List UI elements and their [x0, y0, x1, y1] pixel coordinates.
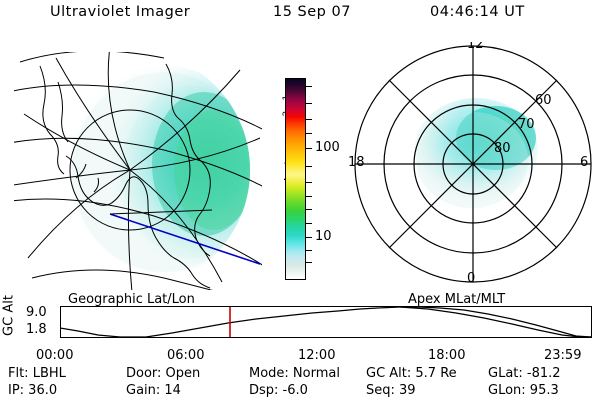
time-tick-0600: 06:00 [167, 348, 204, 363]
colorbar-minor-tick [305, 119, 312, 120]
orbit-track-panel[interactable]: Geographic Lat/Lon Apex MLat/MLT GC Alt … [0, 292, 600, 348]
status-ip: IP: 36.0 [8, 383, 57, 398]
colorbar-ticklabel-10: 10 [315, 230, 332, 243]
mlt-label-0: 0 [467, 272, 475, 285]
page-title: Ultraviolet Imager [50, 4, 190, 20]
colorbar-ticklabel-100: 100 [315, 141, 340, 154]
colorbar-tick-10 [305, 237, 312, 238]
header-bar: Ultraviolet Imager 15 Sep 07 04:46:14 UT [0, 4, 600, 30]
colorbar-minor-tick [305, 250, 312, 251]
mlt-label-12: 12 [467, 42, 484, 51]
mlat-label-60: 60 [535, 94, 552, 107]
mlt-spokes [355, 46, 591, 282]
geographic-polar-plot [14, 52, 262, 290]
colorbar-minor-tick [305, 133, 312, 134]
status-block: Flt: LBHL Door: Open Mode: Normal GC Alt… [0, 366, 600, 400]
status-flt: Flt: LBHL [8, 366, 66, 381]
time-tick-1800: 18:00 [428, 348, 465, 363]
aurora-emission-mlt [414, 98, 538, 208]
status-gc-alt: GC Alt: 5.7 Re [366, 366, 457, 381]
track-title-apex: Apex MLat/MLT [408, 292, 505, 307]
time-tick-0000: 00:00 [36, 348, 73, 363]
mlt-label-6: 6 [580, 156, 588, 169]
status-glat: GLat: -81.2 [488, 366, 561, 381]
time-tick-1200: 12:00 [298, 348, 335, 363]
time-tick-2359: 23:59 [544, 348, 581, 363]
colorbar-minor-tick [305, 209, 312, 210]
altitude-curve-left [60, 307, 591, 337]
colorbar-minor-tick [305, 166, 312, 167]
track-title-geographic: Geographic Lat/Lon [68, 292, 195, 307]
status-glon: GLon: 95.3 [488, 383, 559, 398]
colorbar-panel: photon cm-2s-1 100 10 [262, 70, 354, 285]
mlat-label-70: 70 [518, 118, 535, 131]
colorbar-minor-tick [305, 103, 312, 104]
colorbar-gradient[interactable] [285, 78, 306, 280]
geographic-image-panel[interactable] [14, 52, 262, 290]
status-gain: Gain: 14 [126, 383, 181, 398]
colorbar-minor-tick [305, 196, 312, 197]
apex-mlt-panel[interactable]: 12 6 0 18 60 70 80 [348, 42, 598, 292]
time-axis: 00:00 06:00 12:00 18:00 23:59 [0, 348, 600, 364]
header-date: 15 Sep 07 [273, 4, 351, 20]
colorbar-minor-tick [305, 223, 312, 224]
orbit-altitude-plot [60, 306, 592, 338]
status-door: Door: Open [126, 366, 200, 381]
colorbar-tick-100 [305, 148, 312, 149]
track-ytick-low: 1.8 [26, 322, 47, 337]
mlt-polar-plot [348, 42, 598, 292]
colorbar-minor-tick [305, 86, 312, 87]
colorbar-minor-tick [305, 262, 312, 263]
colorbar-minor-tick [305, 182, 312, 183]
header-time: 04:46:14 UT [430, 4, 525, 20]
mlt-label-18: 18 [348, 156, 365, 169]
aurora-emission-geo [70, 66, 262, 274]
mlat-label-80: 80 [494, 142, 511, 155]
status-dsp: Dsp: -6.0 [249, 383, 308, 398]
status-seq: Seq: 39 [366, 383, 416, 398]
status-mode: Mode: Normal [249, 366, 340, 381]
track-ytick-high: 9.0 [26, 305, 47, 320]
track-y-axis-label: GC Alt [2, 292, 17, 340]
